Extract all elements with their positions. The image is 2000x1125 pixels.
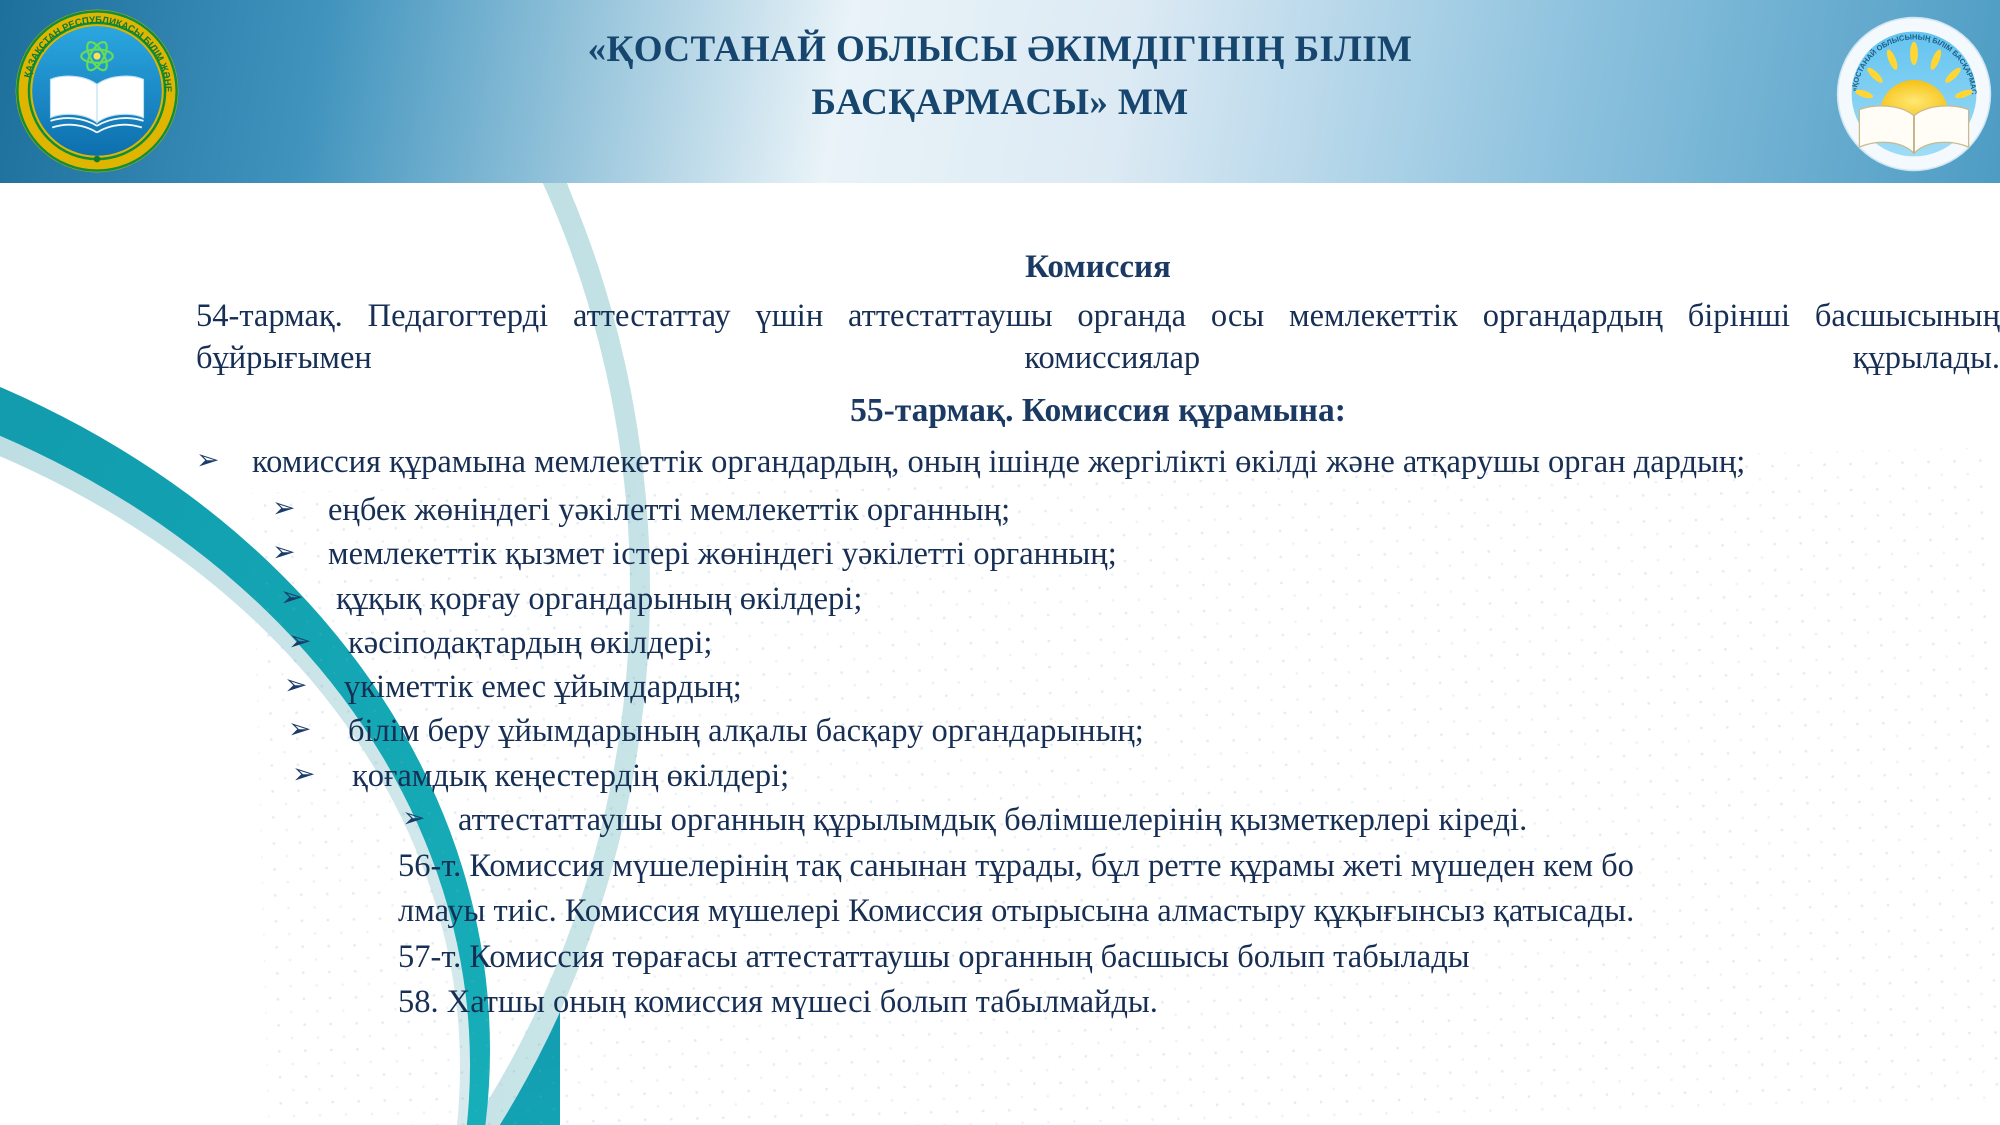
list-item-label: мемлекеттік қызмет істері жөніндегі уәкі… (328, 533, 2000, 575)
arrow-bullet-icon: ➢ (284, 667, 307, 703)
section-heading-55: 55-тармақ. Комиссия құрамына: (196, 389, 2000, 433)
list-item: ➢ үкіметтік емес ұйымдардың; (196, 666, 2000, 708)
list-item: ➢ қоғамдық кеңестердің өкілдері; (196, 755, 2000, 797)
paragraph-58: 58. Хатшы оның комиссия мүшесі болып таб… (196, 981, 2000, 1023)
slide-content: Комиссия 54-тармақ. Педагогтерді аттеста… (196, 246, 2000, 1026)
arrow-bullet-icon: ➢ (292, 756, 315, 792)
closing-paragraphs: 56-т. Комиссия мүшелерінің тақ санынан т… (196, 845, 2000, 1023)
paragraph-54: 54-тармақ. Педагогтерді аттестаттау үшін… (196, 295, 2000, 380)
slide: ҚАЗАҚСТАН РЕСПУБЛИКАСЫ БІЛІМ ЖӘНЕ ҒЫЛЫМ … (0, 0, 2000, 1125)
paragraph-56-line-2: лмауы тиіс. Комиссия мүшелері Комиссия о… (196, 890, 2000, 932)
arrow-bullet-icon: ➢ (272, 534, 295, 570)
list-item-label: үкіметтік емес ұйымдардың; (344, 666, 2000, 708)
paragraph-56-line-1: 56-т. Комиссия мүшелерінің тақ санынан т… (196, 845, 2000, 887)
list-item-label: құқық қорғау органдарының өкілдері; (336, 578, 2000, 620)
list-item: ➢ аттестаттаушы органның құрылымдық бөлі… (196, 799, 2000, 841)
list-item-label: кәсіподақтардың өкілдері; (348, 622, 2000, 664)
list-item: ➢ құқық қорғау органдарының өкілдері; (196, 578, 2000, 620)
list-item: ➢ еңбек жөніндегі уәкілетті мемлекеттік … (196, 489, 2000, 531)
arrow-bullet-icon: ➢ (288, 711, 311, 747)
list-item-label: аттестаттаушы органның құрылымдық бөлімш… (458, 799, 2000, 841)
list-item: ➢ мемлекеттік қызмет істері жөніндегі уә… (196, 533, 2000, 575)
page-title: «ҚОСТАНАЙ ОБЛЫСЫ ӘКІМДІГІНІҢ БІЛІМ БАСҚА… (470, 24, 1530, 129)
list-item-label: білім беру ұйымдарының алқалы басқару ор… (348, 710, 2000, 752)
arrow-bullet-icon: ➢ (402, 800, 425, 836)
paragraph-57: 57-т. Комиссия төрағасы аттестаттаушы ор… (196, 936, 2000, 978)
list-item-label: еңбек жөніндегі уәкілетті мемлекеттік ор… (328, 489, 2000, 531)
page-title-line-1: «ҚОСТАНАЙ ОБЛЫСЫ ӘКІМДІГІНІҢ БІЛІМ (470, 24, 1530, 77)
arrow-bullet-icon: ➢ (280, 579, 303, 615)
section-title: Комиссия (196, 246, 2000, 289)
list-item: ➢ білім беру ұйымдарының алқалы басқару … (196, 710, 2000, 752)
list-item: ➢ кәсіподақтардың өкілдері; (196, 622, 2000, 664)
list-item-label: қоғамдық кеңестердің өкілдері; (352, 755, 2000, 797)
ministry-of-education-kazakhstan-seal-icon: ҚАЗАҚСТАН РЕСПУБЛИКАСЫ БІЛІМ ЖӘНЕ ҒЫЛЫМ … (14, 8, 180, 174)
list-item-label: комиссия құрамына мемлекеттік органдарды… (252, 441, 2000, 483)
kostanay-region-education-department-seal-icon: «ҚОСТАНАЙ ОБЛЫСЫНЫҢ БІЛІМ БАСҚАРМАСЫ» (1836, 8, 1992, 180)
arrow-bullet-icon: ➢ (288, 623, 311, 659)
page-title-line-2: БАСҚАРМАСЫ» ММ (470, 77, 1530, 130)
bullet-list: ➢ комиссия құрамына мемлекеттік органдар… (196, 441, 2000, 841)
arrow-bullet-icon: ➢ (196, 442, 219, 478)
arrow-bullet-icon: ➢ (272, 490, 295, 526)
list-item: ➢ комиссия құрамына мемлекеттік органдар… (196, 441, 2000, 483)
